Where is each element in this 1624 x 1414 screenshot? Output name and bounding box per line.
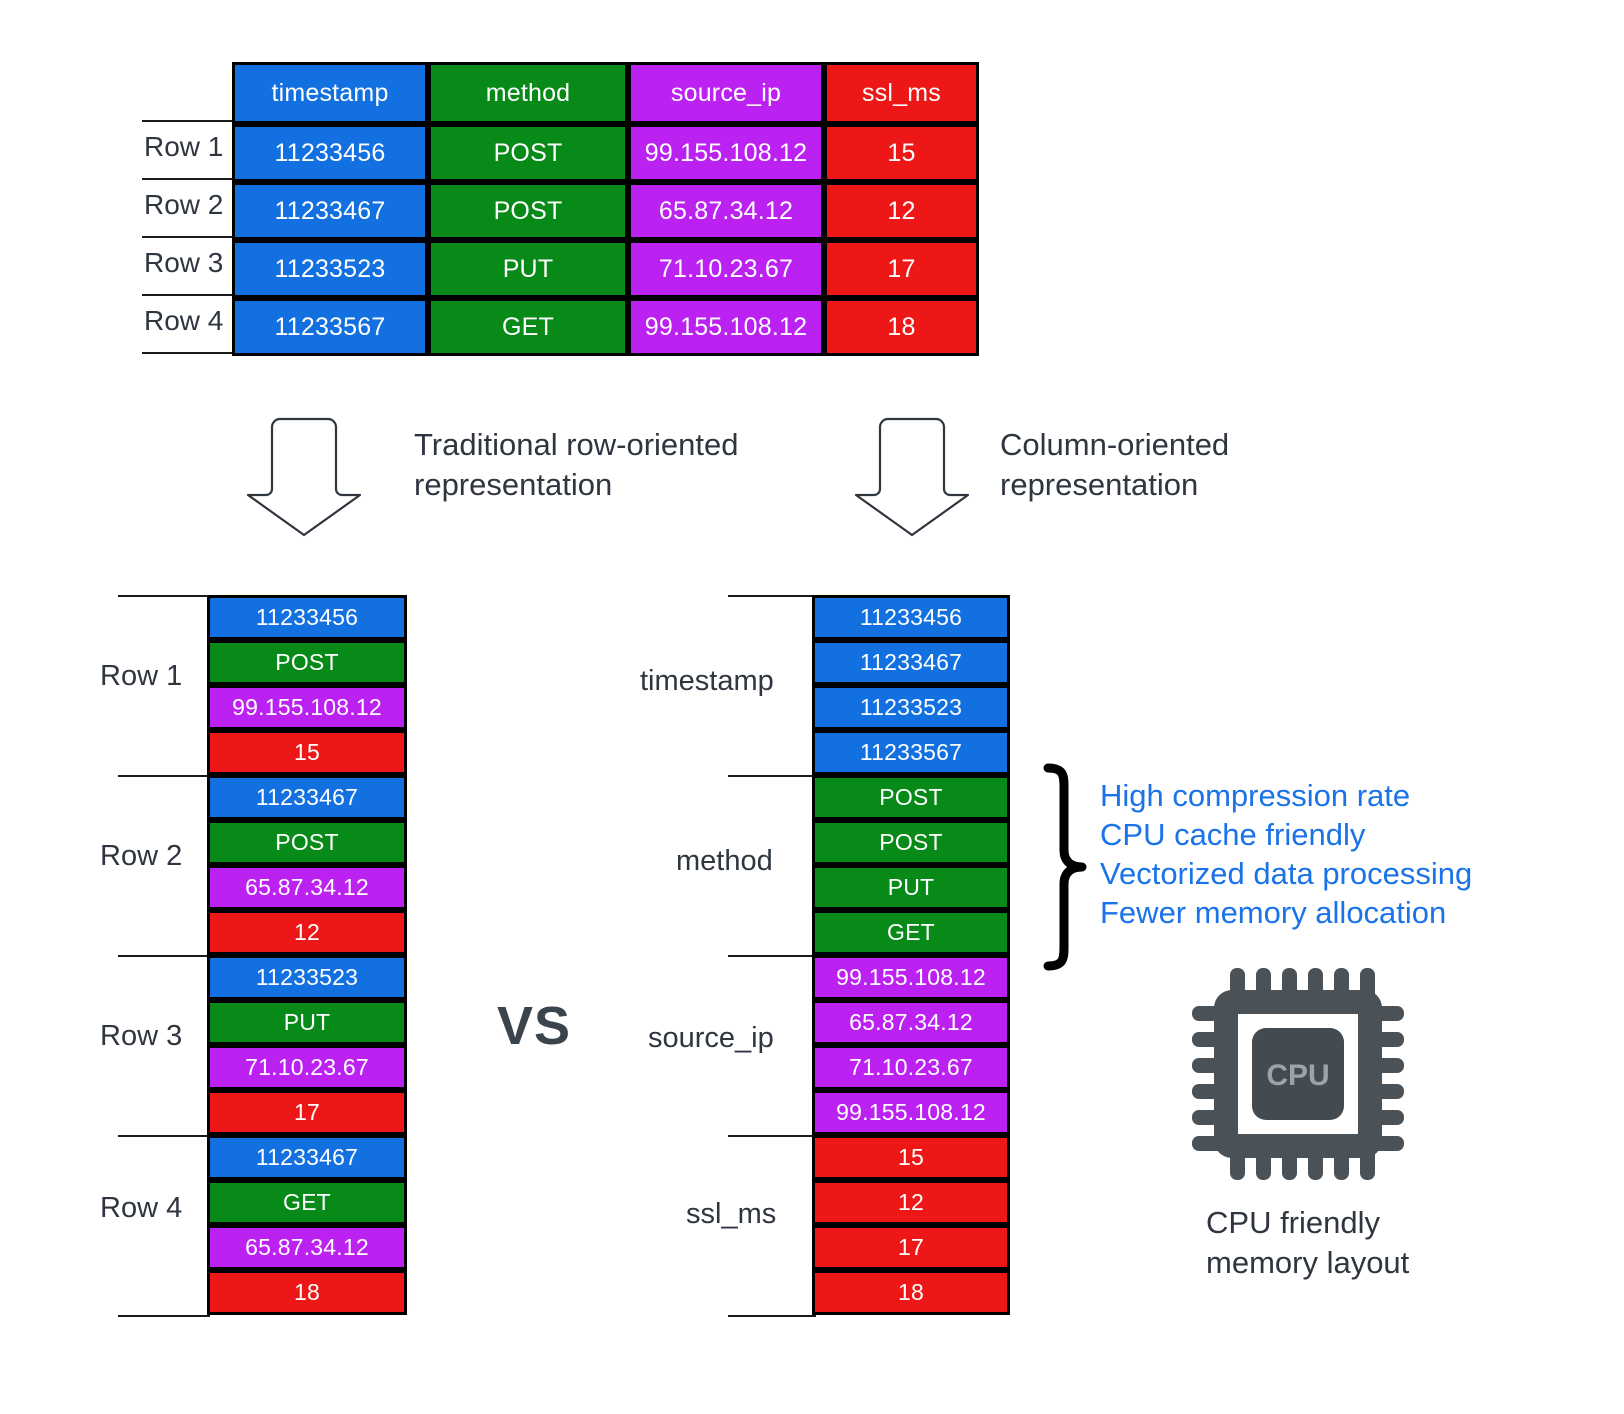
cell-source-ip: 99.155.108.12: [628, 298, 824, 356]
column-cell: POST: [812, 775, 1010, 820]
source-table: timestamp method source_ip ssl_ms 112334…: [232, 62, 979, 356]
benefit-item: CPU cache friendly: [1100, 815, 1472, 854]
row-cell: 12: [207, 910, 407, 955]
column-cell: 18: [812, 1270, 1010, 1315]
top-row-label-4: Row 4: [144, 305, 223, 337]
column-cell: 99.155.108.12: [812, 1090, 1010, 1135]
column-cell: 11233523: [812, 685, 1010, 730]
row-group-label-2: Row 2: [100, 840, 182, 873]
cell-source-ip: 71.10.23.67: [628, 240, 824, 298]
row-cell: 71.10.23.67: [207, 1045, 407, 1090]
column-cell: 11233567: [812, 730, 1010, 775]
row-group-label-4: Row 4: [100, 1192, 182, 1225]
cell-timestamp: 11233467: [232, 182, 428, 240]
column-cell: 99.155.108.12: [812, 955, 1010, 1000]
table-header-row: timestamp method source_ip ssl_ms: [232, 62, 979, 124]
column-cell: 12: [812, 1180, 1010, 1225]
column-group-label-timestamp: timestamp: [640, 665, 774, 698]
column-header-timestamp: timestamp: [232, 62, 428, 124]
row-cell: 65.87.34.12: [207, 865, 407, 910]
benefit-item: Fewer memory allocation: [1100, 893, 1472, 932]
column-group-label-source-ip: source_ip: [648, 1022, 774, 1055]
column-cell: POST: [812, 820, 1010, 865]
row-oriented-memory-stack: 11233456 POST 99.155.108.12 15 11233467 …: [207, 595, 407, 1315]
curly-brace-icon: [1038, 762, 1092, 977]
column-header-source-ip: source_ip: [628, 62, 824, 124]
column-oriented-memory-stack: 11233456 11233467 11233523 11233567 POST…: [812, 595, 1010, 1315]
down-arrow-column-oriented: [851, 415, 973, 545]
row-cell: 11233467: [207, 775, 407, 820]
top-row-label-2: Row 2: [144, 189, 223, 221]
column-cell: 11233456: [812, 595, 1010, 640]
table-row: 11233523 PUT 71.10.23.67 17: [232, 240, 979, 298]
vs-label: VS: [497, 995, 571, 1057]
column-cell: 71.10.23.67: [812, 1045, 1010, 1090]
row-cell: 11233456: [207, 595, 407, 640]
column-header-ssl-ms: ssl_ms: [824, 62, 979, 124]
cell-method: PUT: [428, 240, 628, 298]
caption-row-oriented: Traditional row-oriented representation: [414, 425, 739, 505]
cpu-chip-icon: CPU: [1186, 962, 1410, 1191]
cell-method: GET: [428, 298, 628, 356]
row-group-label-1: Row 1: [100, 660, 182, 693]
caption-column-oriented: Column-oriented representation: [1000, 425, 1229, 505]
row-cell: 11233523: [207, 955, 407, 1000]
column-cell: 15: [812, 1135, 1010, 1180]
diagram-canvas: Row 1 Row 2 Row 3 Row 4 timestamp method…: [0, 0, 1624, 1414]
cell-source-ip: 99.155.108.12: [628, 124, 824, 182]
row-cell: 18: [207, 1270, 407, 1315]
cell-method: POST: [428, 182, 628, 240]
row-cell: POST: [207, 820, 407, 865]
cell-ssl-ms: 15: [824, 124, 979, 182]
column-cell: GET: [812, 910, 1010, 955]
row-cell: PUT: [207, 1000, 407, 1045]
column-header-method: method: [428, 62, 628, 124]
cell-ssl-ms: 17: [824, 240, 979, 298]
table-row: 11233456 POST 99.155.108.12 15: [232, 124, 979, 182]
down-arrow-icon: [243, 415, 365, 540]
top-row-label-3: Row 3: [144, 247, 223, 279]
table-row: 11233467 POST 65.87.34.12 12: [232, 182, 979, 240]
row-cell: 11233467: [207, 1135, 407, 1180]
row-cell: 15: [207, 730, 407, 775]
column-group-label-ssl-ms: ssl_ms: [686, 1198, 776, 1231]
cpu-chip-label: CPU: [1266, 1059, 1329, 1092]
cell-timestamp: 11233456: [232, 124, 428, 182]
table-row: 11233567 GET 99.155.108.12 18: [232, 298, 979, 356]
column-cell: 17: [812, 1225, 1010, 1270]
cell-source-ip: 65.87.34.12: [628, 182, 824, 240]
row-cell: 17: [207, 1090, 407, 1135]
cell-timestamp: 11233567: [232, 298, 428, 356]
benefit-item: Vectorized data processing: [1100, 854, 1472, 893]
column-cell: 11233467: [812, 640, 1010, 685]
row-cell: GET: [207, 1180, 407, 1225]
row-cell: POST: [207, 640, 407, 685]
benefit-item: High compression rate: [1100, 776, 1472, 815]
cell-method: POST: [428, 124, 628, 182]
benefits-list: High compression rate CPU cache friendly…: [1100, 776, 1472, 932]
cell-ssl-ms: 18: [824, 298, 979, 356]
cpu-caption: CPU friendly memory layout: [1206, 1203, 1409, 1283]
row-group-label-3: Row 3: [100, 1020, 182, 1053]
row-cell: 65.87.34.12: [207, 1225, 407, 1270]
row-cell: 99.155.108.12: [207, 685, 407, 730]
column-cell: PUT: [812, 865, 1010, 910]
top-row-label-1: Row 1: [144, 131, 223, 163]
column-group-label-method: method: [676, 845, 773, 878]
cell-timestamp: 11233523: [232, 240, 428, 298]
column-cell: 65.87.34.12: [812, 1000, 1010, 1045]
top-table-row-ticks: Row 1 Row 2 Row 3 Row 4: [142, 62, 234, 362]
down-arrow-row-oriented: [243, 415, 365, 545]
down-arrow-icon: [851, 415, 973, 540]
cell-ssl-ms: 12: [824, 182, 979, 240]
